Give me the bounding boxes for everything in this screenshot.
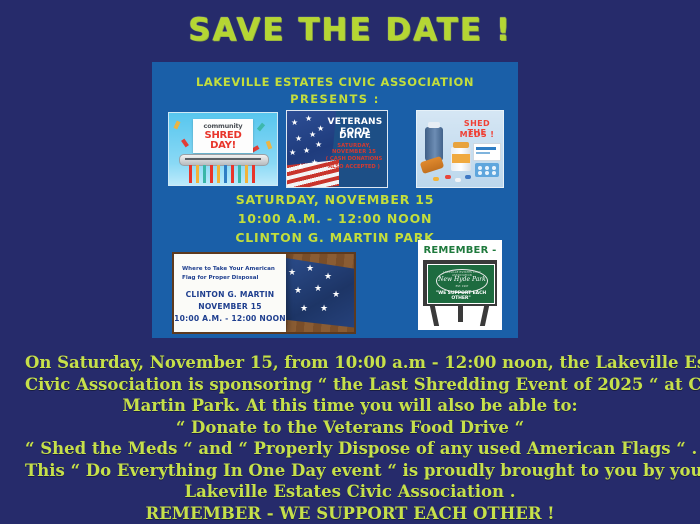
body-line-1: On Saturday, November 15, from 10:00 a.m… (25, 352, 675, 374)
association-sign: LAKEVILLE ESTATES CIVIC ASSOCIATION New … (427, 264, 495, 304)
panel-heading-line1: LAKEVILLE ESTATES CIVIC ASSOCIATION (152, 74, 518, 91)
pill-icon (455, 178, 461, 182)
paper-strip (238, 165, 241, 183)
sign-oval: LAKEVILLE ESTATES CIVIC ASSOCIATION New … (436, 269, 488, 293)
image-row-top: community SHRED DAY! (168, 110, 502, 186)
body-line-5: “ Shed the Meds “ and “ Properly Dispose… (25, 438, 675, 460)
body-line-2: Civic Association is sponsoring “ the La… (25, 374, 675, 396)
body-text: On Saturday, November 15, from 10:00 a.m… (25, 352, 675, 524)
flag-disposal-line2: NOVEMBER 15 (174, 302, 286, 311)
panel-heading: LAKEVILLE ESTATES CIVIC ASSOCIATION PRES… (152, 74, 518, 108)
veterans-line4: ( CASH DONATIONS ALSO ACCEPTED ) (321, 155, 387, 171)
shred-line3: DAY! (193, 140, 253, 151)
flag-disposal-line1: CLINTON G. MARTIN (174, 290, 286, 299)
page-title: SAVE THE DATE ! (0, 12, 700, 48)
paper-strip (245, 165, 248, 183)
sign-name: New Hyde Park (437, 276, 487, 283)
pill-bottle-icon (451, 147, 471, 171)
pill-icon (445, 175, 451, 179)
veterans-line3: SATURDAY, NOVEMBER 15 (321, 143, 387, 155)
flyer-canvas: SAVE THE DATE ! LAKEVILLE ESTATES CIVIC … (0, 0, 700, 516)
flag-disposal-line3: 10:00 A.M. - 12:00 NOON (174, 314, 286, 323)
veterans-food-drive-image: ★ ★ ★ ★ ★ ★ ★ ★ ★ ★ VETERANS FOOD DRIVE … (286, 110, 388, 188)
sign-motto: "WE SUPPORT EACH OTHER" (428, 291, 494, 301)
medicine-box-icon (473, 143, 501, 161)
paper-strip (210, 165, 213, 183)
body-line-8: REMEMBER - WE SUPPORT EACH OTHER ! (25, 503, 675, 524)
body-line-6: This “ Do Everything In One Day event “ … (25, 460, 675, 482)
remember-title: REMEMBER - (418, 245, 502, 256)
shred-sign: community SHRED DAY! (193, 119, 253, 153)
veterans-line2: DRIVE (323, 131, 387, 141)
flag-disposal-card: Where to Take Your American Flag for Pro… (174, 254, 286, 332)
blister-pack-icon (475, 163, 499, 177)
paper-strip (203, 165, 206, 183)
easel-leg (480, 306, 489, 326)
pill-icon (433, 177, 439, 181)
shredder-slot (185, 158, 261, 160)
flag-disposal-heading: Where to Take Your American Flag for Pro… (182, 265, 280, 283)
event-time: 10:00 A.M. - 12:00 NOON (152, 209, 518, 228)
flag-disposal-image: ★ ★ ★ ★ ★ ★ ★ ★ Where to Take Your Ameri… (172, 252, 356, 334)
paper-strip (224, 165, 227, 183)
pill-icon (465, 175, 471, 179)
event-date: SATURDAY, NOVEMBER 15 (152, 190, 518, 209)
easel-leg (430, 306, 439, 326)
paper-strip (217, 165, 220, 183)
meds-line2: MEDS ! (453, 130, 501, 139)
shred-day-image: community SHRED DAY! (168, 112, 278, 186)
body-line-4: “ Donate to the Veterans Food Drive “ (25, 417, 675, 439)
body-line-7: Lakeville Estates Civic Association . (25, 481, 675, 503)
shed-the-meds-image: SHED THE MEDS ! (416, 110, 504, 188)
shred-line1: community (193, 122, 253, 130)
easel-icon: LAKEVILLE ESTATES CIVIC ASSOCIATION New … (423, 260, 497, 306)
medicine-bottle-icon (425, 127, 443, 161)
paper-strip (196, 165, 199, 183)
remember-card: REMEMBER - LAKEVILLE ESTATES CIVIC ASSOC… (418, 240, 502, 330)
event-details: SATURDAY, NOVEMBER 15 10:00 A.M. - 12:00… (152, 190, 518, 247)
paper-strip (252, 165, 255, 183)
panel-heading-line2: PRESENTS : (152, 91, 518, 108)
easel-leg (458, 306, 463, 322)
event-panel: LAKEVILLE ESTATES CIVIC ASSOCIATION PRES… (152, 62, 518, 338)
sign-est: EST. 1997 (437, 285, 487, 288)
paper-strip (231, 165, 234, 183)
body-line-3: Martin Park. At this time you will also … (25, 395, 675, 417)
paper-strip (189, 165, 192, 183)
